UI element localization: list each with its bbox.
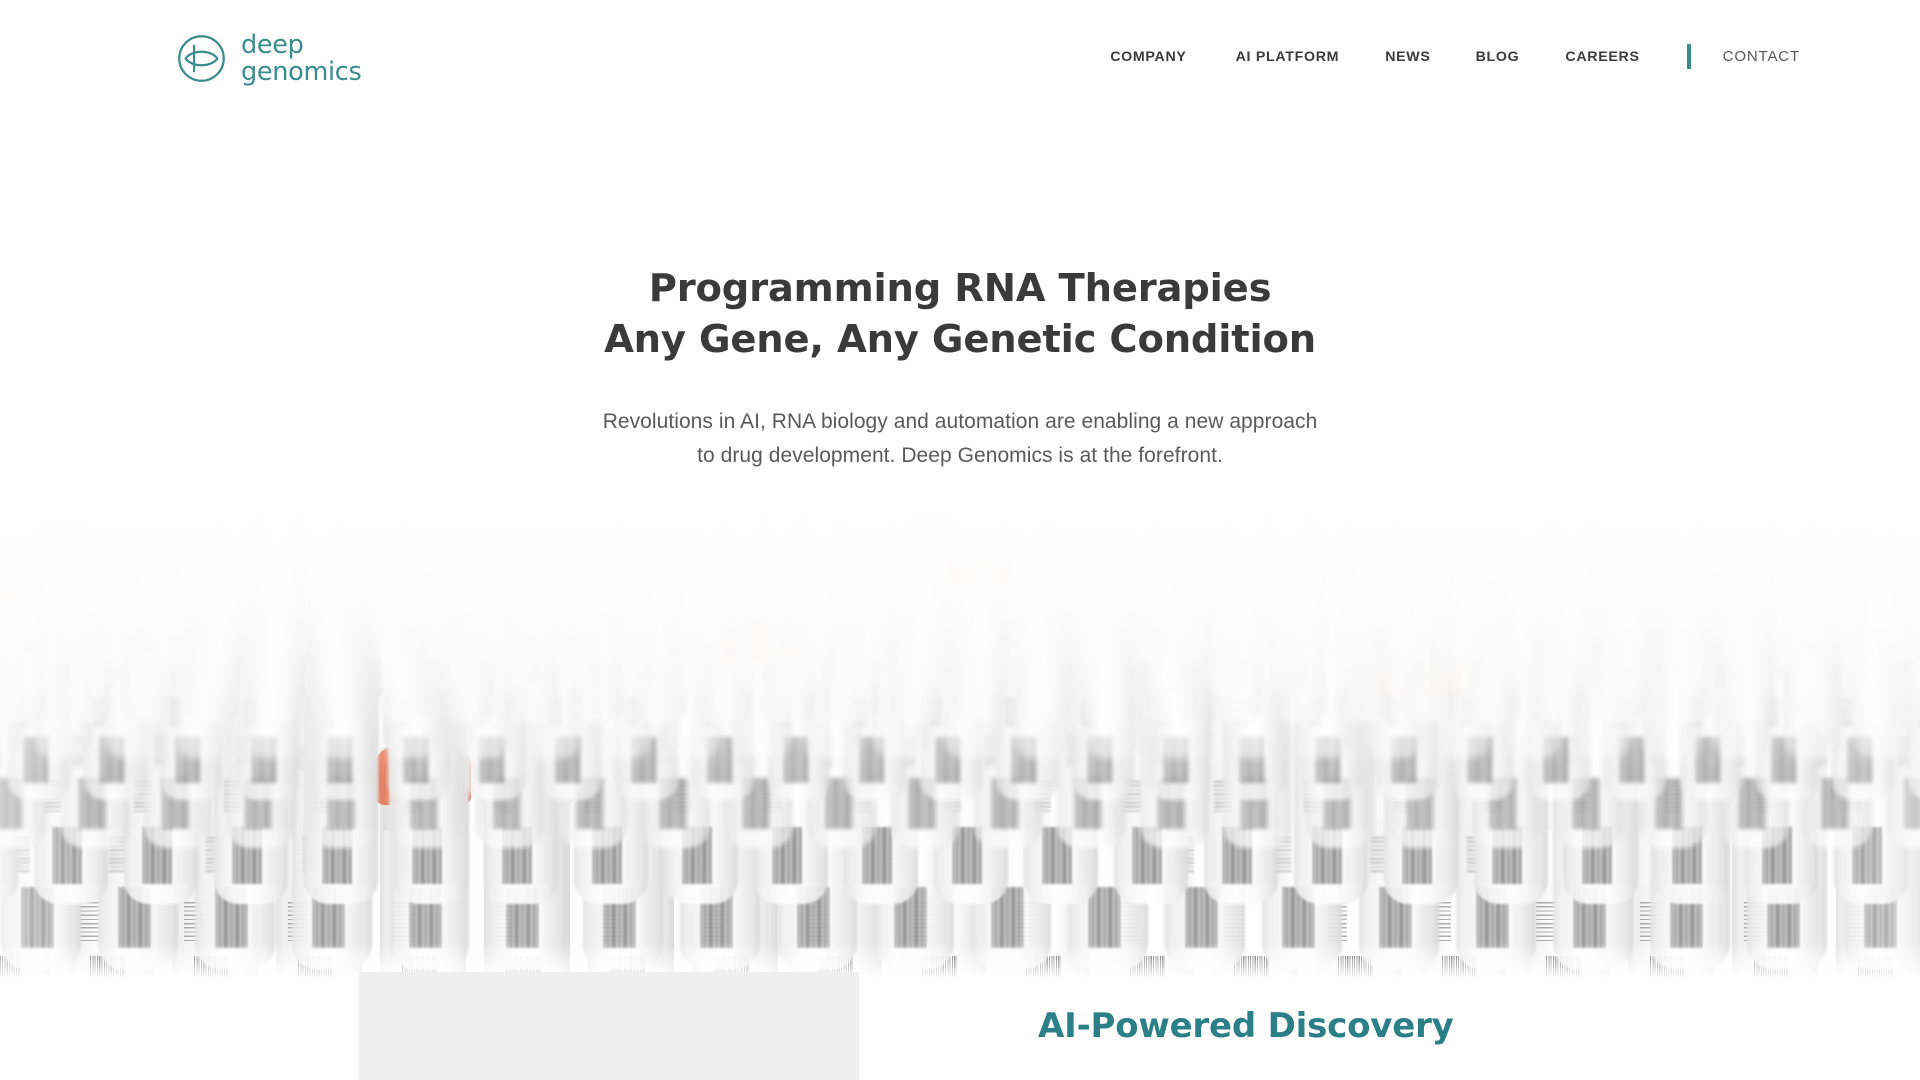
vial xyxy=(1130,482,1158,565)
vial xyxy=(266,482,294,565)
nav-item-contact[interactable]: CONTACT xyxy=(1723,48,1800,65)
brand-wordmark-line2: genomics xyxy=(241,59,361,85)
vial xyxy=(1634,482,1662,565)
vial xyxy=(1058,482,1086,565)
vial xyxy=(0,482,6,565)
nav-item-blog[interactable]: BLOG xyxy=(1476,45,1520,69)
main-navigation: COMPANY AI PLATFORM NEWS BLOG CAREERS CO… xyxy=(1110,44,1800,69)
vial xyxy=(482,482,510,565)
vial xyxy=(1346,482,1374,565)
vial xyxy=(194,482,222,565)
nav-item-company[interactable]: COMPANY xyxy=(1110,45,1186,69)
nav-divider xyxy=(1687,44,1691,69)
nav-item-news[interactable]: NEWS xyxy=(1385,45,1430,69)
site-header: deep genomics COMPANY AI PLATFORM NEWS B… xyxy=(0,0,1920,118)
discovery-media-placeholder xyxy=(359,972,859,1080)
vial xyxy=(770,482,798,565)
hero-copy: Programming RNA Therapies Any Gene, Any … xyxy=(0,263,1920,473)
vial xyxy=(518,482,546,565)
vial xyxy=(1886,482,1914,565)
cryovial-array-photo xyxy=(0,448,1920,988)
vial xyxy=(338,482,366,565)
vial xyxy=(662,482,690,565)
hero-subtitle-line2: to drug development. Deep Genomics is at… xyxy=(697,444,1223,467)
deep-genomics-circle-mark xyxy=(175,32,228,85)
hero-subtitle: Revolutions in AI, RNA biology and autom… xyxy=(0,405,1920,473)
vial-row xyxy=(0,482,1920,565)
vial xyxy=(1706,482,1734,565)
vial xyxy=(842,482,870,565)
vial xyxy=(1454,482,1482,565)
brand-logo-link[interactable]: deep genomics xyxy=(175,32,361,85)
vial xyxy=(1670,482,1698,565)
vial xyxy=(1814,482,1842,565)
vial xyxy=(122,482,150,565)
vial xyxy=(230,482,258,565)
vial xyxy=(554,482,582,565)
vial xyxy=(1238,482,1266,565)
vial xyxy=(698,482,726,565)
vial xyxy=(914,482,942,565)
vial xyxy=(14,482,42,565)
vial xyxy=(1022,482,1050,565)
vial xyxy=(1526,482,1554,565)
ai-powered-discovery-section xyxy=(0,1060,1920,1080)
vial xyxy=(446,482,474,565)
vial xyxy=(806,482,834,565)
vial xyxy=(1598,482,1626,565)
vial xyxy=(590,482,618,565)
hero-title: Programming RNA Therapies Any Gene, Any … xyxy=(0,263,1920,365)
vial xyxy=(986,482,1014,565)
vial xyxy=(86,482,114,565)
vial xyxy=(950,482,978,565)
vial xyxy=(1418,482,1446,565)
vial xyxy=(1490,482,1518,565)
vial xyxy=(878,482,906,565)
hero-title-line1: Programming RNA Therapies xyxy=(649,266,1272,311)
vial xyxy=(626,482,654,565)
vial xyxy=(1562,482,1590,565)
discovery-heading: AI-Powered Discovery xyxy=(1038,1006,1454,1046)
hero-title-line2: Any Gene, Any Genetic Condition xyxy=(604,317,1316,362)
vial xyxy=(1742,482,1770,565)
vial xyxy=(302,482,330,565)
vial xyxy=(734,482,762,565)
vial xyxy=(1094,482,1122,565)
vial xyxy=(1202,482,1230,565)
nav-item-careers[interactable]: CAREERS xyxy=(1565,45,1639,69)
vial xyxy=(410,482,438,565)
hero-subtitle-line1: Revolutions in AI, RNA biology and autom… xyxy=(603,410,1318,433)
brand-wordmark-line1: deep xyxy=(241,32,361,58)
vial xyxy=(1778,482,1806,565)
vial xyxy=(50,482,78,565)
vial xyxy=(158,482,186,565)
page-root: deep genomics COMPANY AI PLATFORM NEWS B… xyxy=(0,0,1920,1080)
vial xyxy=(1382,482,1410,565)
vial xyxy=(1850,482,1878,565)
hero-section: Programming RNA Therapies Any Gene, Any … xyxy=(0,118,1920,1060)
vial-stage xyxy=(0,448,1920,988)
nav-item-ai-platform[interactable]: AI PLATFORM xyxy=(1236,45,1340,69)
brand-wordmark: deep genomics xyxy=(241,32,361,85)
vial xyxy=(374,482,402,565)
vial xyxy=(1310,482,1338,565)
vial xyxy=(1274,482,1302,565)
vial xyxy=(1166,482,1194,565)
